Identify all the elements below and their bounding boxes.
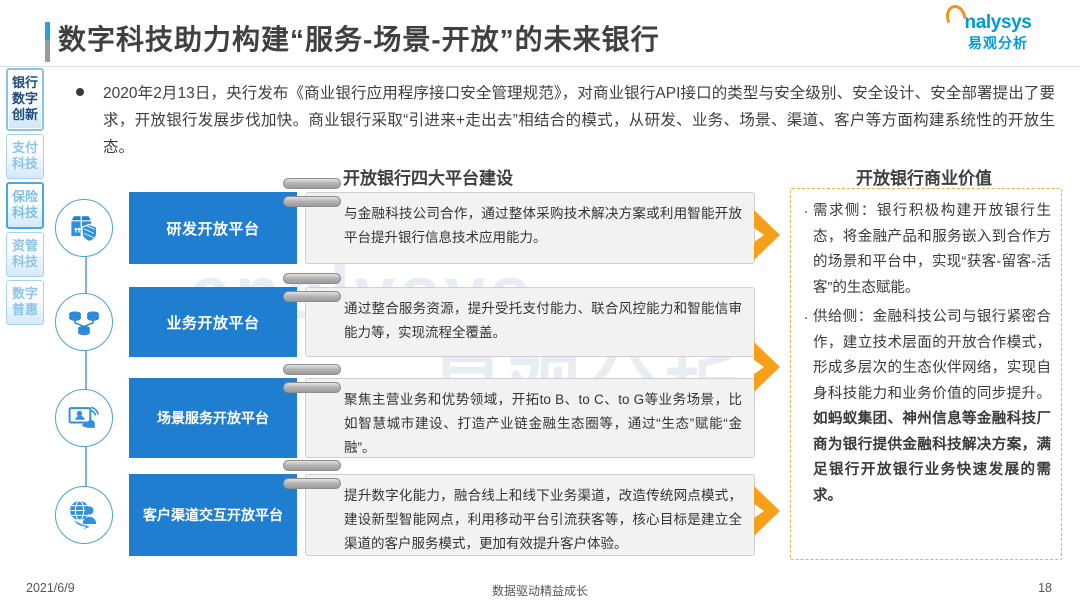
platform-label[interactable]: 客户渠道交互开放平台 xyxy=(129,474,297,556)
chevron-right-icon xyxy=(752,208,786,262)
value-item-text-bold: 如蚂蚁集团、神州信息等金融科技厂商为银行提供金融科技解决方案，满足银行开放银行业… xyxy=(813,411,1051,504)
platform-list: 研发开放平台 与金融科技公司合作，通过整体采购技术解决方案或利用智能开放平台提升… xyxy=(55,190,755,560)
section-heading-platforms: 开放银行四大平台建设 xyxy=(343,164,513,189)
analysys-logo: nalysys 易观分析 xyxy=(938,12,1058,60)
platform-description: 聚焦主营业务和优势领域，开拓to B、to C、to G等业务场景，比如智慧城市… xyxy=(305,378,755,458)
package-shield-icon xyxy=(55,199,113,257)
platform-label[interactable]: 场景服务开放平台 xyxy=(129,378,297,458)
section-heading-value: 开放银行商业价值 xyxy=(856,164,992,189)
chevron-right-icon xyxy=(752,484,786,538)
sidebar-item-label: 资管科技 xyxy=(7,238,43,270)
chevron-right-icon xyxy=(752,340,786,394)
page-title: 数字科技助力构建“服务-场景-开放”的未来银行 xyxy=(58,18,660,58)
sidebar-item-digital-inclusive[interactable]: 数字普惠 xyxy=(6,280,44,325)
platform-label[interactable]: 业务开放平台 xyxy=(129,287,297,357)
title-accent-bar xyxy=(45,22,50,62)
value-list-item: · 供给侧：金融科技公司与银行紧密合作，建立技术层面的开放合作模式，形成多层次的… xyxy=(799,305,1051,509)
page-header: 数字科技助力构建“服务-场景-开放”的未来银行 nalysys 易观分析 xyxy=(0,0,1080,66)
platform-row: 场景服务开放平台 聚焦主营业务和优势领域，开拓to B、to C、to G等业务… xyxy=(55,378,755,458)
sidebar-item-insurance-tech[interactable]: 保险科技 xyxy=(6,182,44,229)
sidebar-nav: 银行数字创新 支付科技 保险科技 资管科技 数字普惠 xyxy=(6,68,46,328)
value-item-text: 需求侧：银行积极构建开放银行生态，将金融产品和服务嵌入到合作方的场景和平台中，实… xyxy=(813,199,1051,301)
logo-swoosh-icon xyxy=(943,3,966,23)
globe-user-icon xyxy=(55,486,113,544)
value-item-text: 供给侧：金融科技公司与银行紧密合作，建立技术层面的开放合作模式，形成多层次的生态… xyxy=(813,305,1051,509)
logo-wordmark: nalysys xyxy=(938,12,1058,34)
database-network-icon xyxy=(55,293,113,351)
sidebar-item-asset-mgmt-tech[interactable]: 资管科技 xyxy=(6,232,44,277)
platform-row: 研发开放平台 与金融科技公司合作，通过整体采购技术解决方案或利用智能开放平台提升… xyxy=(55,192,755,264)
platform-row: 业务开放平台 通过整合服务资源，提升受托支付能力、联合风控能力和智能信审能力等，… xyxy=(55,287,755,357)
platform-description: 与金融科技公司合作，通过整体采购技术解决方案或利用智能开放平台提升银行信息技术应… xyxy=(305,192,755,264)
bullet-icon: · xyxy=(799,199,813,301)
header-divider xyxy=(0,66,1080,67)
sidebar-item-label: 数字普惠 xyxy=(7,286,43,318)
logo-subtitle: 易观分析 xyxy=(938,34,1058,52)
value-item-text-normal: 供给侧：金融科技公司与银行紧密合作，建立技术层面的开放合作模式，形成多层次的生态… xyxy=(813,309,1051,402)
platform-label[interactable]: 研发开放平台 xyxy=(129,192,297,264)
sidebar-item-label: 保险科技 xyxy=(8,189,42,221)
business-value-box: · 需求侧：银行积极构建开放银行生态，将金融产品和服务嵌入到合作方的场景和平台中… xyxy=(790,188,1062,560)
platform-row: 客户渠道交互开放平台 提升数字化能力，融合线上和线下业务渠道，改造传统网点模式，… xyxy=(55,474,755,556)
page-footer: 2021/6/9 数据驱动精益成长 18 xyxy=(0,574,1080,608)
screen-user-icon xyxy=(55,389,113,447)
sidebar-item-label: 银行数字创新 xyxy=(8,75,42,123)
logo-wordmark-text: nalysys xyxy=(965,12,1032,33)
platform-description: 通过整合服务资源，提升受托支付能力、联合风控能力和智能信审能力等，实现流程全覆盖… xyxy=(305,287,755,357)
bullet-icon: · xyxy=(799,305,813,509)
sidebar-item-bank-digital-innovation[interactable]: 银行数字创新 xyxy=(6,68,44,131)
intro-paragraph: 2020年2月13日，央行发布《商业银行应用程序接口安全管理规范》，对商业银行A… xyxy=(70,80,1055,161)
sidebar-item-payment-tech[interactable]: 支付科技 xyxy=(6,134,44,179)
platform-description: 提升数字化能力，融合线上和线下业务渠道，改造传统网点模式，建设新型智能网点，利用… xyxy=(305,474,755,556)
value-list-item: · 需求侧：银行积极构建开放银行生态，将金融产品和服务嵌入到合作方的场景和平台中… xyxy=(799,199,1051,301)
footer-slogan: 数据驱动精益成长 xyxy=(0,582,1080,599)
bullet-icon xyxy=(76,88,84,96)
footer-page-number: 18 xyxy=(1038,581,1052,595)
sidebar-item-label: 支付科技 xyxy=(7,140,43,172)
intro-text: 2020年2月13日，央行发布《商业银行应用程序接口安全管理规范》，对商业银行A… xyxy=(103,80,1055,161)
